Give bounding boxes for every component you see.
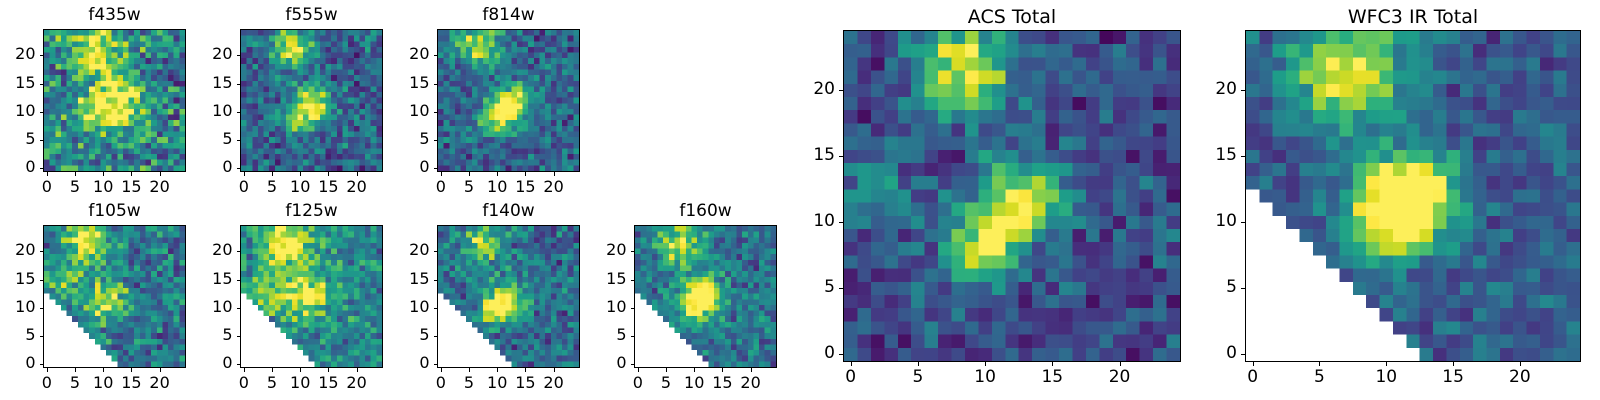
yticklabel-f105w-15: 15 <box>3 271 36 287</box>
xtick-f125w-5 <box>272 368 273 372</box>
xticklabel-acs_total-10: 10 <box>965 369 1005 386</box>
axes-f125w[interactable] <box>240 225 383 368</box>
panel-title-acs_total: ACS Total <box>843 8 1181 27</box>
ytick-f160w-10 <box>631 308 635 309</box>
ytick-wfc3_ir_total-5 <box>1241 288 1245 289</box>
xtick-f140w-10 <box>497 368 498 372</box>
xtick-f814w-10 <box>497 172 498 176</box>
yticklabel-wfc3_ir_total-5: 5 <box>1205 279 1237 296</box>
xticklabel-f814w-20: 20 <box>534 179 574 195</box>
yticklabel-f160w-10: 10 <box>594 299 627 315</box>
ytick-f814w-15 <box>434 84 438 85</box>
yticklabel-f555w-20: 20 <box>200 46 233 62</box>
ytick-acs_total-0 <box>839 354 843 355</box>
xtick-f555w-5 <box>272 172 273 176</box>
yticklabel-f814w-0: 0 <box>397 159 430 175</box>
yticklabel-f160w-20: 20 <box>594 242 627 258</box>
ytick-f125w-5 <box>237 336 241 337</box>
yticklabel-f435w-5: 5 <box>3 131 36 147</box>
ytick-f140w-5 <box>434 336 438 337</box>
xtick-f555w-0 <box>244 172 245 176</box>
xtick-f140w-0 <box>441 368 442 372</box>
ytick-f435w-5 <box>40 140 44 141</box>
xtick-f160w-10 <box>694 368 695 372</box>
yticklabel-f125w-5: 5 <box>200 327 233 343</box>
xtick-wfc3_ir_total-10 <box>1386 362 1387 366</box>
xtick-wfc3_ir_total-5 <box>1319 362 1320 366</box>
yticklabel-acs_total-10: 10 <box>803 213 835 230</box>
yticklabel-f125w-15: 15 <box>200 271 233 287</box>
ytick-f555w-5 <box>237 140 241 141</box>
ytick-f125w-15 <box>237 280 241 281</box>
yticklabel-f140w-0: 0 <box>397 355 430 371</box>
ytick-f435w-20 <box>40 55 44 56</box>
ytick-wfc3_ir_total-20 <box>1241 90 1245 91</box>
yticklabel-f555w-10: 10 <box>200 103 233 119</box>
ytick-f435w-15 <box>40 84 44 85</box>
xtick-wfc3_ir_total-0 <box>1253 362 1254 366</box>
axes-f814w[interactable] <box>437 29 580 172</box>
yticklabel-f105w-5: 5 <box>3 327 36 343</box>
xtick-f435w-5 <box>75 172 76 176</box>
yticklabel-f435w-20: 20 <box>3 46 36 62</box>
yticklabel-f435w-10: 10 <box>3 103 36 119</box>
yticklabel-wfc3_ir_total-20: 20 <box>1205 81 1237 98</box>
xtick-f435w-10 <box>103 172 104 176</box>
panel-acs_total[interactable]: ACS Total0055101015152020 <box>803 6 1181 392</box>
yticklabel-f125w-20: 20 <box>200 242 233 258</box>
ytick-f105w-15 <box>40 280 44 281</box>
xtick-f160w-5 <box>666 368 667 372</box>
yticklabel-f435w-0: 0 <box>3 159 36 175</box>
heatmap-wfc3_ir_total <box>1246 31 1580 361</box>
yticklabel-f555w-5: 5 <box>200 131 233 147</box>
yticklabel-wfc3_ir_total-15: 15 <box>1205 147 1237 164</box>
xtick-f555w-15 <box>328 172 329 176</box>
xtick-acs_total-0 <box>851 362 852 366</box>
xtick-f435w-0 <box>47 172 48 176</box>
axes-f555w[interactable] <box>240 29 383 172</box>
xticklabel-wfc3_ir_total-20: 20 <box>1500 369 1540 386</box>
ytick-f555w-20 <box>237 55 241 56</box>
ytick-f105w-5 <box>40 336 44 337</box>
figure-canvas: f435w0055101015152020f555w00551010151520… <box>0 0 1600 400</box>
heatmap-acs_total <box>844 31 1180 361</box>
yticklabel-f105w-0: 0 <box>3 355 36 371</box>
panel-title-f814w: f814w <box>437 7 580 24</box>
axes-acs_total[interactable] <box>843 30 1181 362</box>
heatmap-f160w <box>635 226 776 367</box>
xtick-wfc3_ir_total-20 <box>1520 362 1521 366</box>
yticklabel-f105w-10: 10 <box>3 299 36 315</box>
xticklabel-f105w-20: 20 <box>140 375 180 391</box>
ytick-f125w-10 <box>237 308 241 309</box>
heatmap-f555w <box>241 30 382 171</box>
xtick-f160w-0 <box>638 368 639 372</box>
xtick-f105w-0 <box>47 368 48 372</box>
ytick-f160w-20 <box>631 251 635 252</box>
ytick-acs_total-5 <box>839 288 843 289</box>
ytick-wfc3_ir_total-10 <box>1241 222 1245 223</box>
ytick-f125w-20 <box>237 251 241 252</box>
axes-f140w[interactable] <box>437 225 580 368</box>
xtick-f140w-5 <box>469 368 470 372</box>
xtick-f125w-10 <box>300 368 301 372</box>
panel-f160w[interactable]: f160w0055101015152020 <box>594 201 777 398</box>
yticklabel-f435w-15: 15 <box>3 75 36 91</box>
yticklabel-f160w-5: 5 <box>594 327 627 343</box>
xticklabel-f125w-20: 20 <box>337 375 377 391</box>
xtick-f435w-20 <box>160 172 161 176</box>
heatmap-f105w <box>44 226 185 367</box>
yticklabel-f140w-20: 20 <box>397 242 430 258</box>
heatmap-f125w <box>241 226 382 367</box>
ytick-f555w-15 <box>237 84 241 85</box>
xticklabel-wfc3_ir_total-10: 10 <box>1366 369 1406 386</box>
xtick-acs_total-20 <box>1120 362 1121 366</box>
xtick-acs_total-15 <box>1052 362 1053 366</box>
xticklabel-acs_total-15: 15 <box>1032 369 1072 386</box>
heatmap-f435w <box>44 30 185 171</box>
xtick-f435w-15 <box>131 172 132 176</box>
axes-f105w[interactable] <box>43 225 186 368</box>
yticklabel-acs_total-0: 0 <box>803 345 835 362</box>
xtick-f105w-20 <box>160 368 161 372</box>
yticklabel-f814w-5: 5 <box>397 131 430 147</box>
yticklabel-f555w-15: 15 <box>200 75 233 91</box>
panel-wfc3_ir_total[interactable]: WFC3 IR Total0055101015152020 <box>1205 6 1581 392</box>
xticklabel-f140w-20: 20 <box>534 375 574 391</box>
ytick-f105w-10 <box>40 308 44 309</box>
panel-f814w[interactable]: f814w0055101015152020 <box>397 5 580 202</box>
xtick-f105w-15 <box>131 368 132 372</box>
yticklabel-f140w-15: 15 <box>397 271 430 287</box>
xticklabel-acs_total-0: 0 <box>831 369 871 386</box>
yticklabel-f160w-0: 0 <box>594 355 627 371</box>
xticklabel-wfc3_ir_total-5: 5 <box>1299 369 1339 386</box>
yticklabel-acs_total-15: 15 <box>803 147 835 164</box>
xtick-wfc3_ir_total-15 <box>1453 362 1454 366</box>
xticklabel-f555w-20: 20 <box>337 179 377 195</box>
yticklabel-f125w-10: 10 <box>200 299 233 315</box>
xtick-f160w-20 <box>751 368 752 372</box>
xtick-f105w-5 <box>75 368 76 372</box>
axes-f435w[interactable] <box>43 29 186 172</box>
ytick-f435w-10 <box>40 112 44 113</box>
yticklabel-acs_total-20: 20 <box>803 81 835 98</box>
yticklabel-f140w-10: 10 <box>397 299 430 315</box>
yticklabel-f814w-10: 10 <box>397 103 430 119</box>
xtick-f140w-20 <box>554 368 555 372</box>
ytick-acs_total-20 <box>839 90 843 91</box>
xtick-f555w-20 <box>357 172 358 176</box>
ytick-f814w-0 <box>434 168 438 169</box>
yticklabel-f140w-5: 5 <box>397 327 430 343</box>
ytick-wfc3_ir_total-15 <box>1241 156 1245 157</box>
ytick-f105w-0 <box>40 364 44 365</box>
yticklabel-f814w-15: 15 <box>397 75 430 91</box>
heatmap-f140w <box>438 226 579 367</box>
xticklabel-f435w-20: 20 <box>140 179 180 195</box>
axes-wfc3_ir_total[interactable] <box>1245 30 1581 362</box>
ytick-f814w-10 <box>434 112 438 113</box>
panel-f125w[interactable]: f125w0055101015152020 <box>200 201 383 398</box>
xticklabel-wfc3_ir_total-0: 0 <box>1233 369 1273 386</box>
xtick-f814w-0 <box>441 172 442 176</box>
ytick-f140w-0 <box>434 364 438 365</box>
xtick-f160w-15 <box>722 368 723 372</box>
xtick-f814w-15 <box>525 172 526 176</box>
yticklabel-f160w-15: 15 <box>594 271 627 287</box>
panel-f435w[interactable]: f435w0055101015152020 <box>3 5 186 202</box>
yticklabel-f814w-20: 20 <box>397 46 430 62</box>
panel-title-f435w: f435w <box>43 7 186 24</box>
ytick-f140w-15 <box>434 280 438 281</box>
panel-title-wfc3_ir_total: WFC3 IR Total <box>1245 8 1581 27</box>
ytick-f160w-15 <box>631 280 635 281</box>
ytick-acs_total-15 <box>839 156 843 157</box>
xticklabel-acs_total-20: 20 <box>1100 369 1140 386</box>
xtick-f125w-15 <box>328 368 329 372</box>
xticklabel-wfc3_ir_total-15: 15 <box>1433 369 1473 386</box>
xticklabel-f160w-20: 20 <box>731 375 771 391</box>
yticklabel-f555w-0: 0 <box>200 159 233 175</box>
yticklabel-f125w-0: 0 <box>200 355 233 371</box>
ytick-f555w-0 <box>237 168 241 169</box>
xtick-f814w-5 <box>469 172 470 176</box>
ytick-f814w-5 <box>434 140 438 141</box>
ytick-f125w-0 <box>237 364 241 365</box>
xticklabel-acs_total-5: 5 <box>898 369 938 386</box>
ytick-acs_total-10 <box>839 222 843 223</box>
heatmap-f814w <box>438 30 579 171</box>
yticklabel-wfc3_ir_total-0: 0 <box>1205 345 1237 362</box>
panel-f105w[interactable]: f105w0055101015152020 <box>3 201 186 398</box>
ytick-f160w-5 <box>631 336 635 337</box>
ytick-f555w-10 <box>237 112 241 113</box>
ytick-f435w-0 <box>40 168 44 169</box>
panel-title-f105w: f105w <box>43 203 186 220</box>
xtick-f125w-20 <box>357 368 358 372</box>
panel-title-f125w: f125w <box>240 203 383 220</box>
panel-f140w[interactable]: f140w0055101015152020 <box>397 201 580 398</box>
xtick-f555w-10 <box>300 172 301 176</box>
xtick-f105w-10 <box>103 368 104 372</box>
ytick-f140w-10 <box>434 308 438 309</box>
xtick-f140w-15 <box>525 368 526 372</box>
yticklabel-wfc3_ir_total-10: 10 <box>1205 213 1237 230</box>
yticklabel-f105w-20: 20 <box>3 242 36 258</box>
xtick-acs_total-5 <box>918 362 919 366</box>
ytick-f814w-20 <box>434 55 438 56</box>
panel-f555w[interactable]: f555w0055101015152020 <box>200 5 383 202</box>
yticklabel-acs_total-5: 5 <box>803 279 835 296</box>
xtick-f125w-0 <box>244 368 245 372</box>
ytick-f140w-20 <box>434 251 438 252</box>
ytick-f160w-0 <box>631 364 635 365</box>
xtick-f814w-20 <box>554 172 555 176</box>
axes-f160w[interactable] <box>634 225 777 368</box>
ytick-f105w-20 <box>40 251 44 252</box>
panel-title-f160w: f160w <box>634 203 777 220</box>
panel-title-f555w: f555w <box>240 7 383 24</box>
ytick-wfc3_ir_total-0 <box>1241 354 1245 355</box>
panel-title-f140w: f140w <box>437 203 580 220</box>
xtick-acs_total-10 <box>985 362 986 366</box>
